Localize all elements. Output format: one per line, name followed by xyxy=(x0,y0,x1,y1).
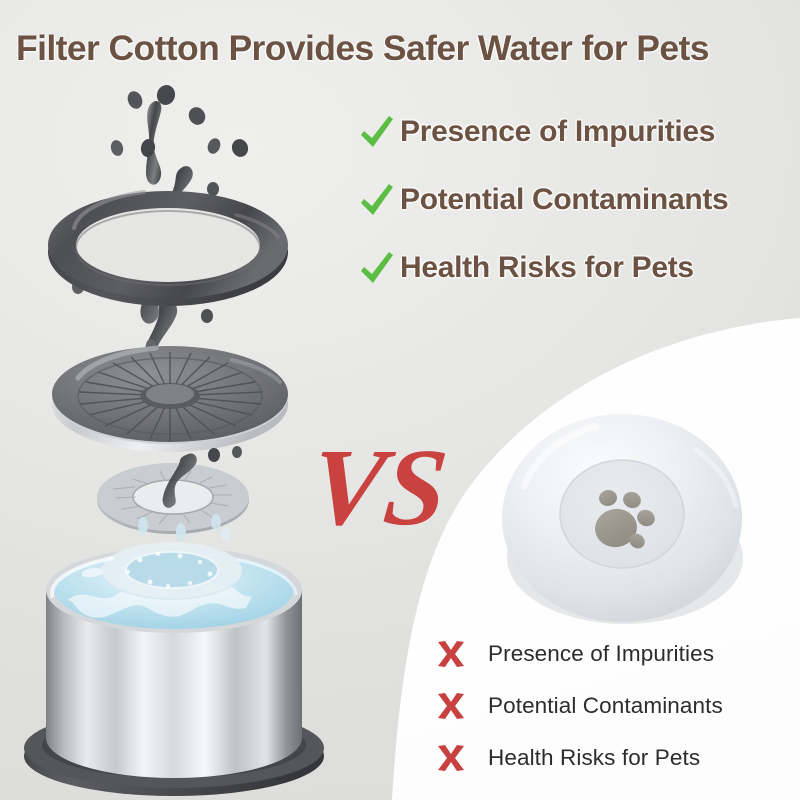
fountain-top-ring xyxy=(48,191,288,306)
filter-cotton-ring xyxy=(97,446,249,541)
list-item: Presence of Impurities xyxy=(436,634,796,674)
list-item: Health Risks for Pets xyxy=(436,738,796,778)
check-icon xyxy=(358,249,396,289)
list-item: Potential Contaminants xyxy=(358,172,798,228)
cross-icon xyxy=(436,743,466,773)
vs-label: VS xyxy=(312,428,453,548)
list-item: Potential Contaminants xyxy=(436,686,796,726)
list-item-label: Health Risks for Pets xyxy=(488,745,700,771)
list-item-label: Health Risks for Pets xyxy=(400,251,694,285)
list-item-label: Presence of Impurities xyxy=(488,641,714,667)
water-splash-graphic xyxy=(72,83,250,384)
right-product-artwork xyxy=(498,408,748,628)
vs-divider: VS xyxy=(312,428,512,548)
list-item: Health Risks for Pets xyxy=(358,240,798,296)
positive-benefits-list: Presence of Impurities Potential Contami… xyxy=(358,104,798,308)
product-comparison-infographic: Filter Cotton Provides Safer Water for P… xyxy=(0,0,800,800)
list-item: Presence of Impurities xyxy=(358,104,798,160)
list-item-label: Potential Contaminants xyxy=(488,693,723,719)
list-item-label: Presence of Impurities xyxy=(400,115,715,149)
stainless-water-bowl xyxy=(24,542,324,796)
cross-icon xyxy=(436,639,466,669)
negative-drawbacks-list: Presence of Impurities Potential Contami… xyxy=(436,634,796,790)
fountain-dome-lid xyxy=(52,346,288,452)
page-title: Filter Cotton Provides Safer Water for P… xyxy=(16,28,796,69)
check-icon xyxy=(358,113,396,153)
check-icon xyxy=(358,181,396,221)
list-item-label: Potential Contaminants xyxy=(400,183,728,217)
cross-icon xyxy=(436,691,466,721)
